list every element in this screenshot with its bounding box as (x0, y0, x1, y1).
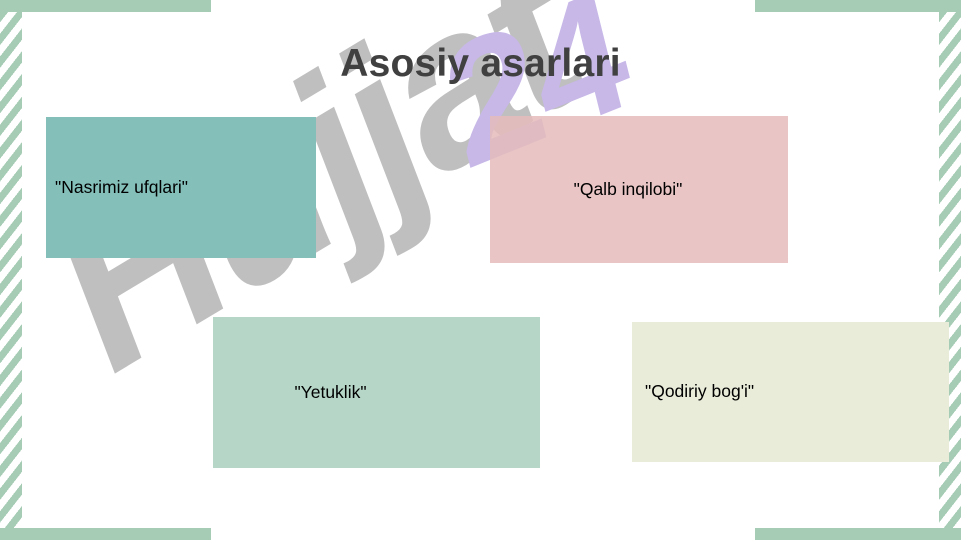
corner-block-bottom-right (755, 528, 961, 540)
content-box-qalb-inqilobi[interactable]: "Qalb inqilobi" (490, 116, 788, 263)
content-box-yetuklik[interactable]: "Yetuklik" (213, 317, 540, 468)
content-box-label: "Qodiriy bog'i" (645, 381, 754, 403)
page-title: Asosiy asarlari (0, 42, 961, 86)
corner-block-top-right (755, 0, 961, 12)
presentation-slide: Hujjat 24 Asosiy asarlari "Nasrimiz ufql… (0, 0, 961, 540)
content-box-nasrimiz-ufqlari[interactable]: "Nasrimiz ufqlari" (46, 117, 316, 258)
content-box-label: "Yetuklik" (294, 382, 458, 404)
corner-block-top-left (0, 0, 211, 12)
content-box-label: "Nasrimiz ufqlari" (55, 177, 188, 199)
corner-block-bottom-left (0, 528, 211, 540)
content-box-qodiriy-bogi[interactable]: "Qodiriy bog'i" (632, 322, 949, 462)
content-box-label: "Qalb inqilobi" (574, 179, 705, 201)
